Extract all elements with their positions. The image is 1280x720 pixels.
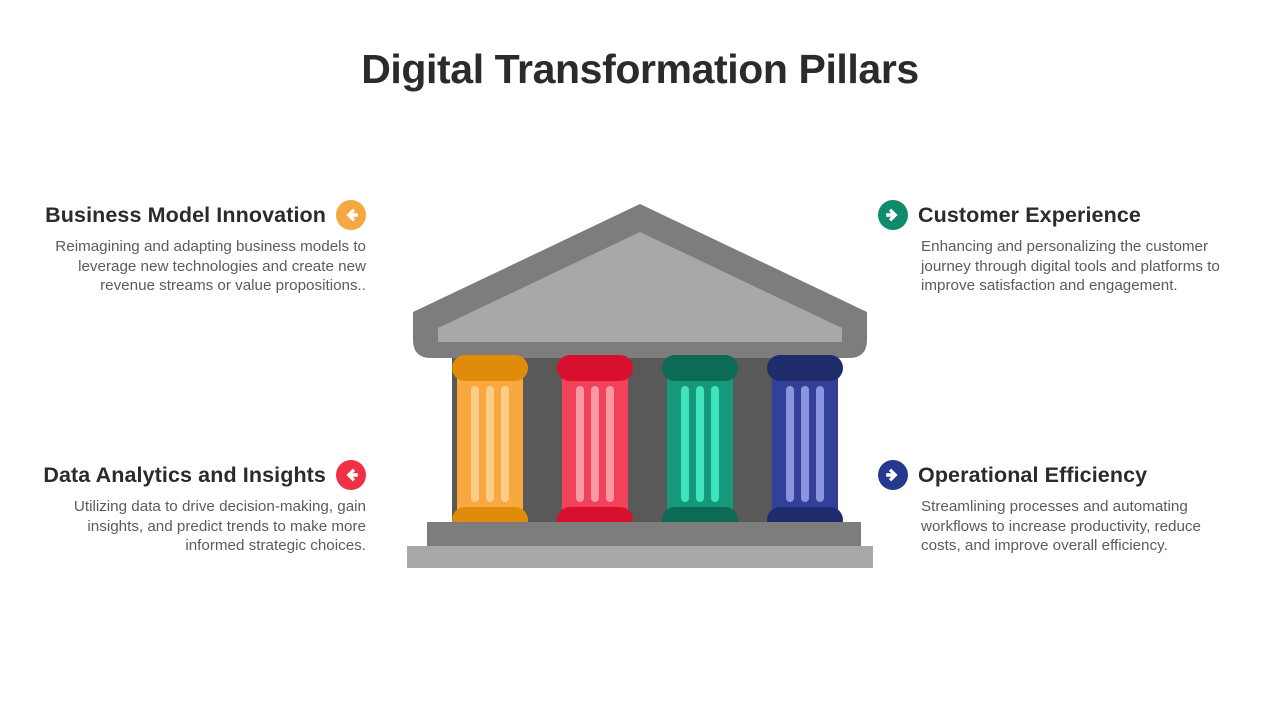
column-2-flute bbox=[591, 386, 599, 502]
temple-base-lower-step bbox=[407, 546, 873, 568]
column-2-flute bbox=[576, 386, 584, 502]
temple-column-2 bbox=[557, 355, 633, 533]
column-1-flute bbox=[501, 386, 509, 502]
pillar-heading-row: Data Analytics and Insights bbox=[42, 460, 366, 490]
page-title: Digital Transformation Pillars bbox=[0, 46, 1280, 93]
arrow-right-circle-icon[interactable] bbox=[878, 200, 908, 230]
arrow-left-circle-icon[interactable] bbox=[336, 200, 366, 230]
pillar-block-customer-experience: Customer Experience Enhancing and person… bbox=[878, 200, 1244, 296]
pillar-block-operational-efficiency: Operational Efficiency Streamlining proc… bbox=[878, 460, 1244, 556]
column-3-flute bbox=[681, 386, 689, 502]
pillar-block-business-model-innovation: Business Model Innovation Reimagining an… bbox=[54, 200, 366, 296]
column-2-capital bbox=[557, 355, 633, 381]
pillar-block-data-analytics-and-insights: Data Analytics and Insights Utilizing da… bbox=[42, 460, 366, 556]
column-1-capital bbox=[452, 355, 528, 381]
greek-temple-illustration bbox=[405, 200, 875, 570]
pillar-heading: Data Analytics and Insights bbox=[43, 463, 326, 488]
temple-base-upper-step bbox=[427, 522, 861, 546]
pillar-heading: Business Model Innovation bbox=[45, 203, 326, 228]
column-3-flute bbox=[696, 386, 704, 502]
slide-canvas: Digital Transformation Pillars bbox=[0, 0, 1280, 720]
temple-column-1 bbox=[452, 355, 528, 533]
column-2-flute bbox=[606, 386, 614, 502]
column-3-capital bbox=[662, 355, 738, 381]
arrow-left-circle-icon[interactable] bbox=[336, 460, 366, 490]
arrow-right-circle-icon[interactable] bbox=[878, 460, 908, 490]
column-1-flute bbox=[486, 386, 494, 502]
temple-column-3 bbox=[662, 355, 738, 533]
pillar-heading: Customer Experience bbox=[918, 203, 1141, 228]
column-1-flute bbox=[471, 386, 479, 502]
temple-column-4 bbox=[767, 355, 843, 533]
column-4-flute bbox=[786, 386, 794, 502]
pillar-heading-row: Customer Experience bbox=[878, 200, 1244, 230]
pillar-heading: Operational Efficiency bbox=[918, 463, 1147, 488]
pillar-description: Streamlining processes and automating wo… bbox=[878, 497, 1244, 556]
column-3-flute bbox=[711, 386, 719, 502]
pillar-description: Reimagining and adapting business models… bbox=[54, 237, 366, 296]
pillar-description: Utilizing data to drive decision-making,… bbox=[42, 497, 366, 556]
pillar-heading-row: Operational Efficiency bbox=[878, 460, 1244, 490]
pillar-description: Enhancing and personalizing the customer… bbox=[878, 237, 1244, 296]
column-4-flute bbox=[816, 386, 824, 502]
column-4-capital bbox=[767, 355, 843, 381]
column-4-flute bbox=[801, 386, 809, 502]
pillar-heading-row: Business Model Innovation bbox=[54, 200, 366, 230]
